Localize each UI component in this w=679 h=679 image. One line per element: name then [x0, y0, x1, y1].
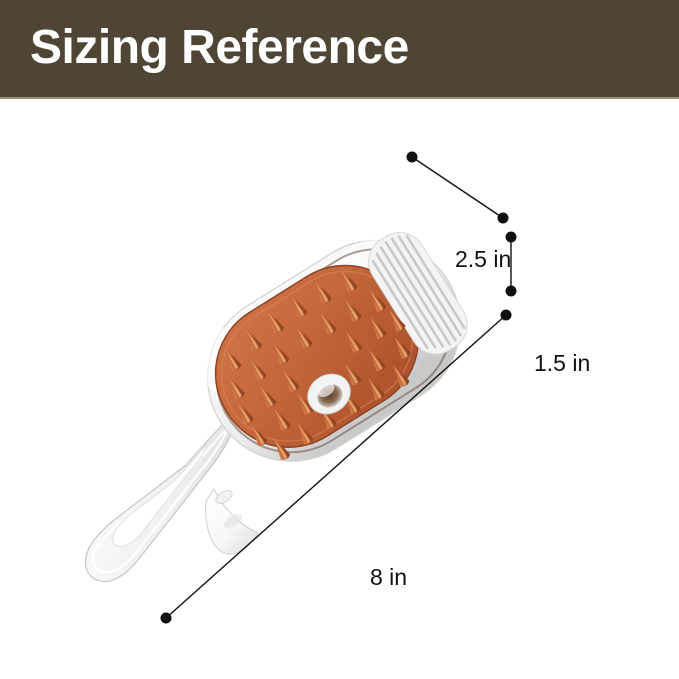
dimension-label-length: 8 in [370, 564, 407, 591]
housing-neck [206, 489, 258, 554]
page-title: Sizing Reference [30, 16, 409, 80]
product-stage: 2.5 in 1.5 in 8 in Material：ABS+TPR * Th… [0, 97, 679, 679]
dimension-label-height: 1.5 in [534, 350, 590, 377]
sizing-reference-page: Sizing Reference [0, 0, 679, 679]
dimension-label-width: 2.5 in [455, 246, 511, 273]
product-image [0, 97, 679, 679]
